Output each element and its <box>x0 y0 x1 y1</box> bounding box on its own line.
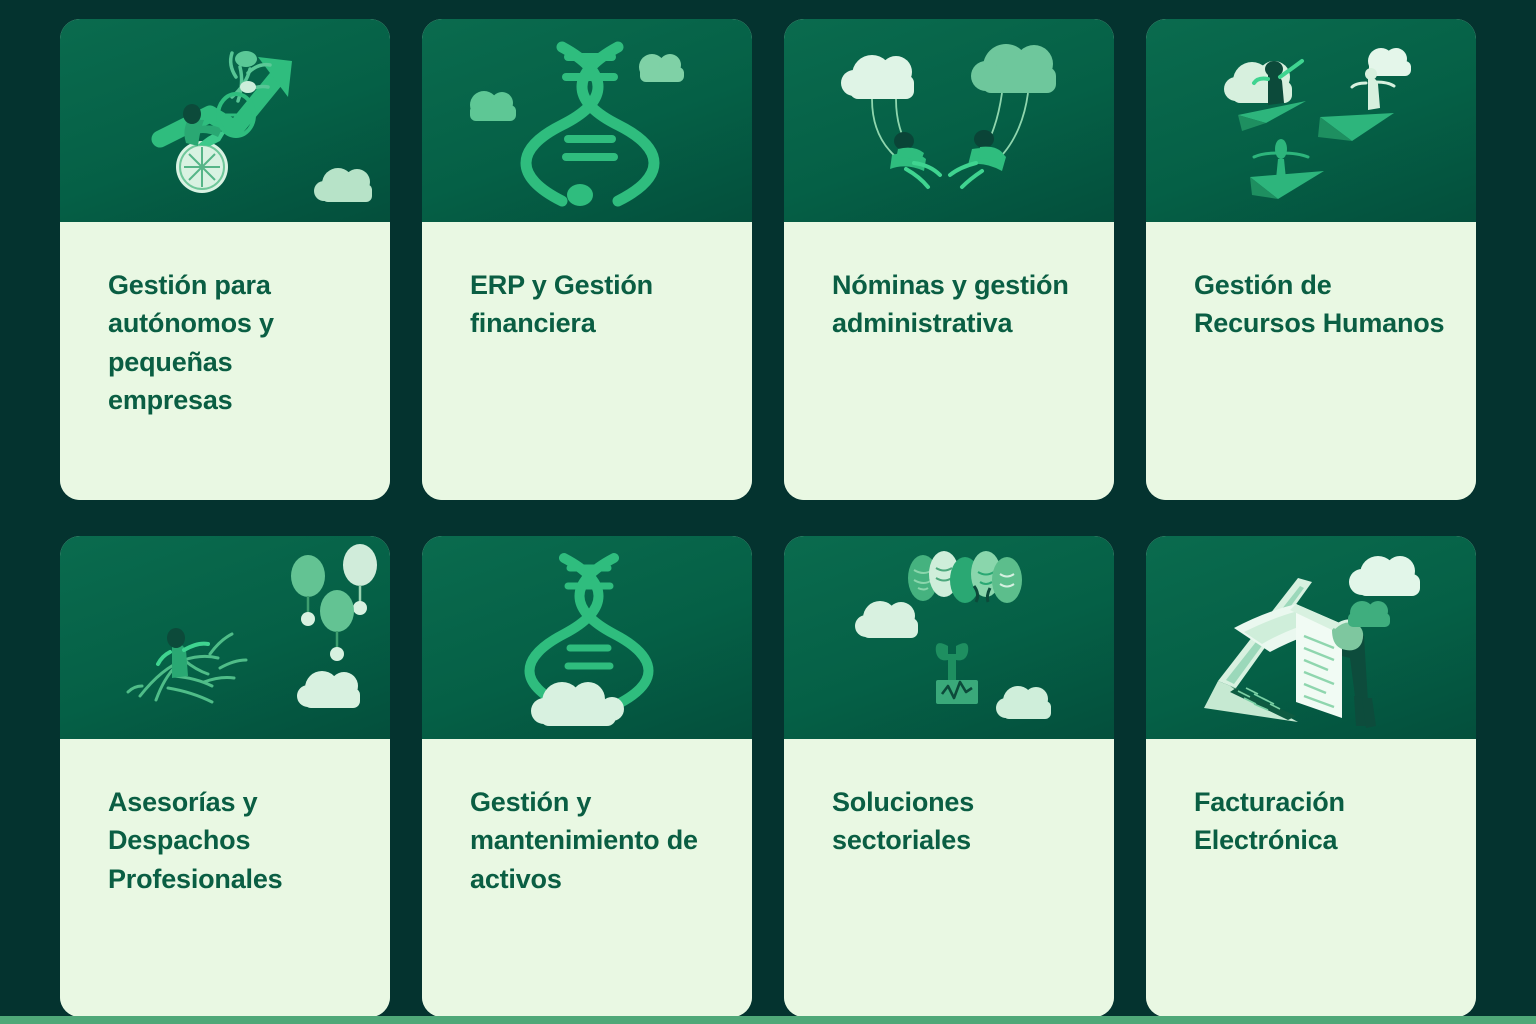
card-title: Gestión y mantenimiento de activos <box>470 783 724 898</box>
card-body: Soluciones sectoriales <box>784 739 1114 1017</box>
card-recursos-humanos[interactable]: Gestión de Recursos Humanos <box>1146 19 1476 500</box>
people-on-cloud-swings-illustration <box>784 19 1114 222</box>
card-body: Nóminas y gestión administrativa <box>784 222 1114 500</box>
bottom-accent-strip <box>0 1016 1536 1024</box>
balloons-and-branch-illustration <box>60 536 390 739</box>
dna-helix-illustration <box>422 19 752 222</box>
card-soluciones-sectoriales[interactable]: Soluciones sectoriales <box>784 536 1114 1017</box>
card-title: Gestión de Recursos Humanos <box>1194 266 1448 343</box>
card-body: Gestión para autónomos y pequeñas empres… <box>60 222 390 500</box>
card-gestion-activos[interactable]: Gestión y mantenimiento de activos <box>422 536 752 1017</box>
card-title: Nóminas y gestión administrativa <box>832 266 1086 343</box>
card-facturacion-electronica[interactable]: Facturación Electrónica <box>1146 536 1476 1017</box>
card-title: ERP y Gestión financiera <box>470 266 724 343</box>
people-riding-paper-planes-illustration <box>1146 19 1476 222</box>
card-title: Gestión para autónomos y pequeñas empres… <box>108 266 362 419</box>
card-nominas-gestion[interactable]: Nóminas y gestión administrativa <box>784 19 1114 500</box>
person-on-rising-arrow-illustration <box>60 19 390 222</box>
card-title: Soluciones sectoriales <box>832 783 1086 860</box>
card-gestion-autonomos[interactable]: Gestión para autónomos y pequeñas empres… <box>60 19 390 500</box>
card-title: Facturación Electrónica <box>1194 783 1448 860</box>
card-asesorias-despachos[interactable]: Asesorías y Despachos Profesionales <box>60 536 390 1017</box>
card-title: Asesorías y Despachos Profesionales <box>108 783 362 898</box>
dna-helix-on-cloud-illustration <box>422 536 752 739</box>
laptop-with-invoice-illustration <box>1146 536 1476 739</box>
sector-icons-and-chart-illustration <box>784 536 1114 739</box>
card-body: Asesorías y Despachos Profesionales <box>60 739 390 1017</box>
card-grid: Gestión para autónomos y pequeñas empres… <box>60 19 1476 1017</box>
card-erp-financiera[interactable]: ERP y Gestión financiera <box>422 19 752 500</box>
card-body: Facturación Electrónica <box>1146 739 1476 1017</box>
card-body: Gestión y mantenimiento de activos <box>422 739 752 1017</box>
card-body: ERP y Gestión financiera <box>422 222 752 500</box>
card-body: Gestión de Recursos Humanos <box>1146 222 1476 500</box>
